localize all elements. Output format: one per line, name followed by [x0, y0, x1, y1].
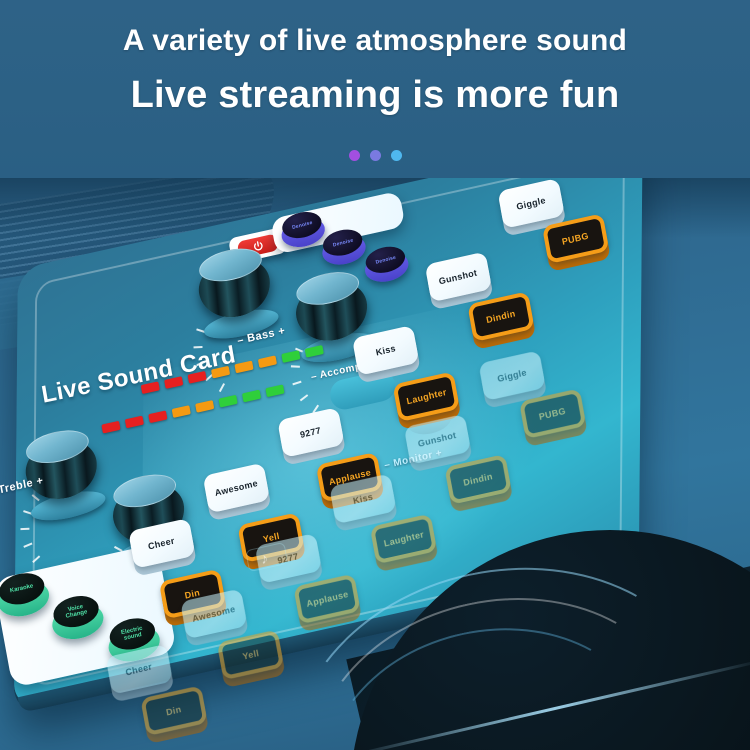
refl-pad-kiss-label: Kiss — [352, 492, 374, 507]
refl-pad-cheer-label: Cheer — [125, 661, 153, 677]
refl-pad-laughter-label: Laughter — [383, 529, 425, 548]
carousel-dot-3[interactable] — [391, 150, 402, 161]
refl-pad-applause-label: Applause — [305, 589, 349, 609]
headline-secondary: Live streaming is more fun — [0, 74, 750, 117]
product-photo: Live Sound Card — [0, 178, 750, 750]
header-section: A variety of live atmosphere sound Live … — [0, 0, 750, 180]
carousel-dot-1[interactable] — [349, 150, 360, 161]
headline-primary: A variety of live atmosphere sound — [0, 24, 750, 58]
carousel-dot-2[interactable] — [370, 150, 381, 161]
carousel-dots[interactable] — [0, 150, 750, 161]
promo-banner: A variety of live atmosphere sound Live … — [0, 0, 750, 750]
refl-pad-dindin-label: Dindin — [463, 471, 494, 488]
refl-pad-yell-label: Yell — [241, 648, 259, 662]
refl-pad-awesome-label: Awesome — [191, 604, 236, 624]
refl-pad-gunshot-label: Gunshot — [417, 430, 457, 449]
refl-pad-pubg-label: PUBG — [538, 406, 566, 422]
refl-pad-giggle-label: Giggle — [497, 367, 528, 384]
refl-pad-din-label: Din — [165, 704, 182, 717]
